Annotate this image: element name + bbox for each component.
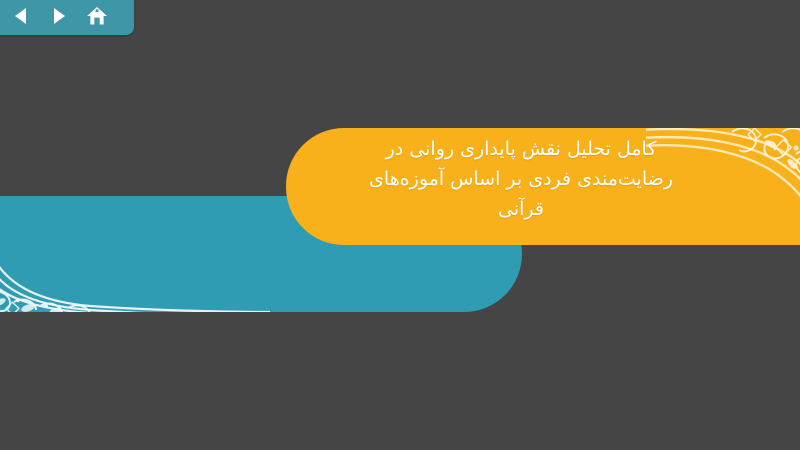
slide-viewer-stage: کامل تحلیل نقش پایداری روانی در رضایت‌من… <box>0 0 800 450</box>
arabesque-corner-ornament-orange <box>646 128 800 245</box>
previous-slide-button[interactable] <box>2 1 40 31</box>
slide-navigation-toolbar <box>0 0 134 35</box>
orange-title-banner <box>286 128 800 245</box>
next-slide-button[interactable] <box>40 1 78 31</box>
arabesque-corner-ornament-teal <box>0 196 270 312</box>
home-button[interactable] <box>78 1 116 31</box>
triangle-left-icon <box>11 6 31 26</box>
triangle-right-icon <box>49 6 69 26</box>
home-icon <box>86 5 108 27</box>
